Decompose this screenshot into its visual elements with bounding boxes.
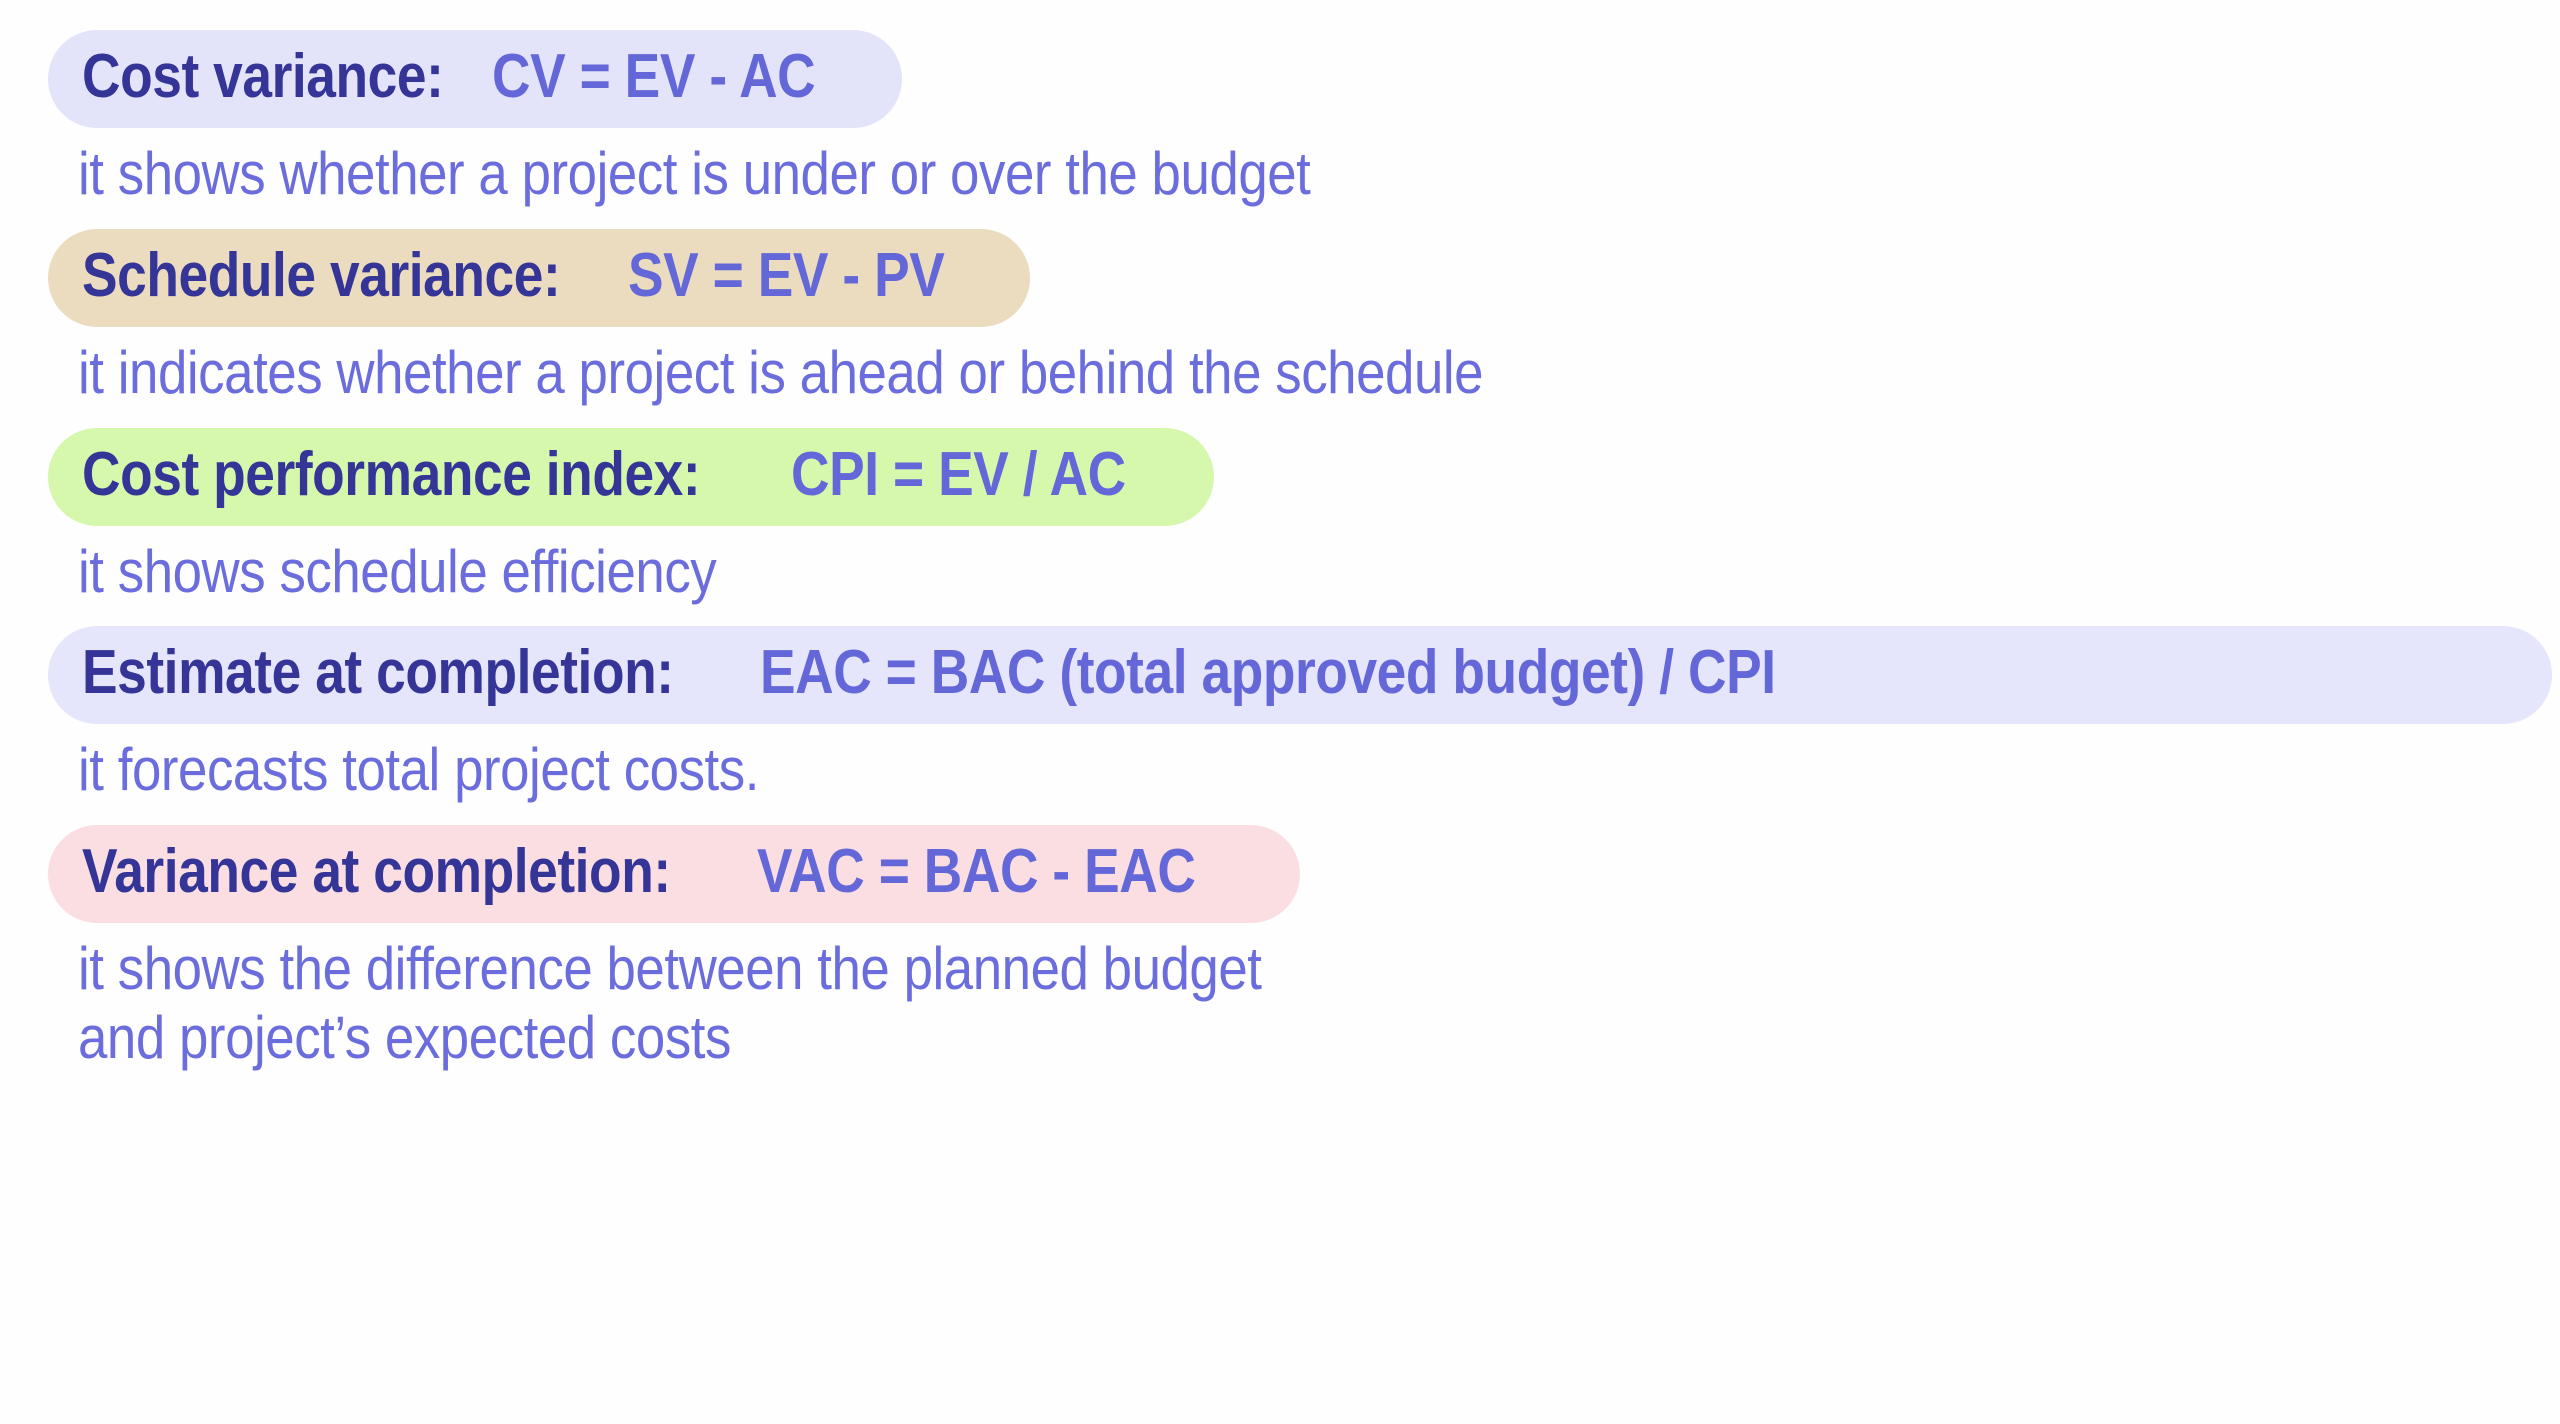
formula-list: Cost variance:CV = EV - AC it shows whet… [0, 30, 2560, 1093]
formula-label: CV = EV - AC [492, 46, 815, 108]
formula-entry-variance-at-completion: Variance at completion:VAC = BAC - EAC i… [0, 825, 2560, 1071]
description-line: it indicates whether a project is ahead … [0, 341, 2560, 406]
formula-entry-estimate-at-completion: Estimate at completion:EAC = BAC (total … [0, 626, 2560, 803]
term-label: Variance at completion: [82, 841, 671, 903]
heading-row: Variance at completion:VAC = BAC - EAC [0, 825, 2560, 923]
heading-row: Schedule variance:SV = EV - PV [0, 229, 2560, 327]
formula-label: VAC = BAC - EAC [757, 841, 1195, 903]
term-label: Schedule variance: [82, 245, 560, 307]
heading-row: Estimate at completion:EAC = BAC (total … [0, 626, 2560, 724]
description-line: and project’s expected costs [0, 1006, 2560, 1071]
formula-entry-cost-variance: Cost variance:CV = EV - AC it shows whet… [0, 30, 2560, 207]
term-label: Cost performance index: [82, 444, 700, 506]
highlight-pill: Schedule variance:SV = EV - PV [48, 229, 1030, 327]
highlight-pill: Cost performance index:CPI = EV / AC [48, 428, 1214, 526]
highlight-pill: Cost variance:CV = EV - AC [48, 30, 902, 128]
formula-label: SV = EV - PV [628, 245, 944, 307]
description-line: it shows schedule efficiency [0, 540, 2560, 605]
highlight-pill: Variance at completion:VAC = BAC - EAC [48, 825, 1300, 923]
heading-row: Cost variance:CV = EV - AC [0, 30, 2560, 128]
formula-label: EAC = BAC (total approved budget) / CPI [760, 642, 1776, 704]
formula-entry-cost-performance-index: Cost performance index:CPI = EV / AC it … [0, 428, 2560, 605]
formula-label: CPI = EV / AC [791, 444, 1126, 506]
slide-canvas: Cost variance:CV = EV - AC it shows whet… [0, 0, 2560, 1424]
description-line: it shows whether a project is under or o… [0, 142, 2560, 207]
highlight-pill: Estimate at completion:EAC = BAC (total … [48, 626, 2552, 724]
term-label: Cost variance: [82, 46, 443, 108]
term-label: Estimate at completion: [82, 642, 674, 704]
formula-entry-schedule-variance: Schedule variance:SV = EV - PV it indica… [0, 229, 2560, 406]
heading-row: Cost performance index:CPI = EV / AC [0, 428, 2560, 526]
description-line: it forecasts total project costs. [0, 738, 2560, 803]
description-line: it shows the difference between the plan… [0, 937, 2560, 1002]
